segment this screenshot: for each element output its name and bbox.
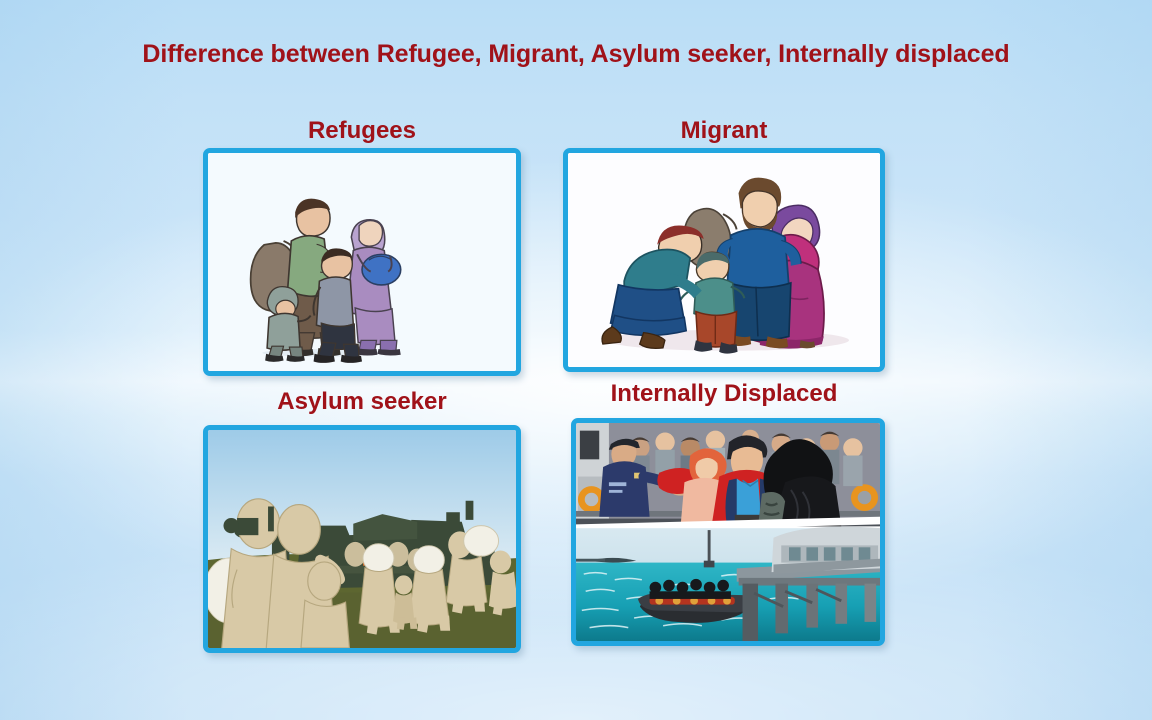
refugee-family-walking-illustration xyxy=(208,153,516,371)
internally-displaced-comic-illustration xyxy=(576,423,880,641)
panel-frame-internally-displaced[interactable] xyxy=(571,418,885,646)
migrant-family-illustration xyxy=(568,153,880,367)
asylum-seeker-camp-illustration xyxy=(208,430,516,648)
panel-caption-internally-displaced: Internally Displaced xyxy=(563,380,885,408)
slide-canvas: Difference between Refugee, Migrant, Asy… xyxy=(0,0,1152,720)
panel-caption-asylum-seeker: Asylum seeker xyxy=(203,388,521,416)
panel-caption-migrant: Migrant xyxy=(563,117,885,145)
panel-caption-refugees: Refugees xyxy=(203,117,521,145)
panel-frame-asylum-seeker[interactable] xyxy=(203,425,521,653)
panel-frame-refugees[interactable] xyxy=(203,148,521,376)
panel-frame-migrant[interactable] xyxy=(563,148,885,372)
page-title: Difference between Refugee, Migrant, Asy… xyxy=(0,40,1152,69)
